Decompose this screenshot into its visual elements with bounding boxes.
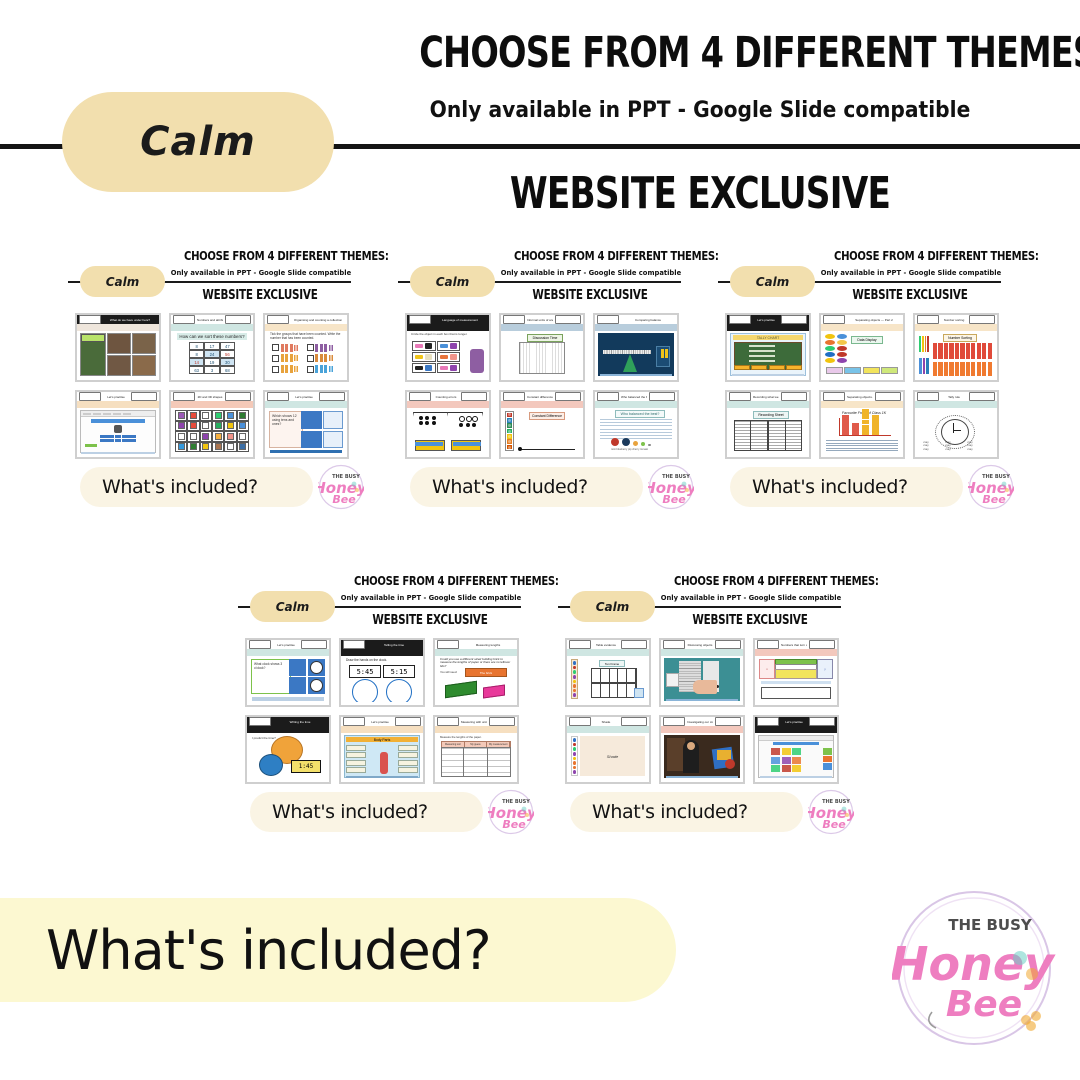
slide-band <box>435 726 517 733</box>
whats-included-label: What's included? <box>46 919 491 982</box>
slide-lesson-tag <box>173 315 195 323</box>
slide-topic-text: Writing the time <box>273 719 327 724</box>
slide-thumbnail[interactable]: Organising and counting a collection Tic… <box>263 313 349 382</box>
slide-thumbnail[interactable]: Language of measurement Circle the objec… <box>405 313 491 382</box>
card-slide-grid: Let's practise TALLY CHART Separating ob… <box>725 313 997 459</box>
slide-topic-text: Measuring with units: long, longer, or l… <box>461 719 487 724</box>
slide-body <box>757 734 835 779</box>
slide-header: Let's practise <box>755 717 837 726</box>
card-theme-pill-label: Calm <box>596 600 630 614</box>
slide-topic-text: Let's practise <box>781 719 807 724</box>
slide-resource-tag <box>809 640 835 648</box>
card-theme-pill-label: Calm <box>276 600 310 614</box>
slide-lesson-tag <box>343 640 365 648</box>
page-subtitle: Only available in PPT - Google Slide com… <box>369 98 1031 123</box>
slide-topic-text: Let's practise <box>273 642 299 647</box>
card-subtitle: Only available in PPT - Google Slide com… <box>171 268 350 277</box>
card-theme-pill-label: Calm <box>436 275 470 289</box>
card-theme-pill[interactable]: Calm <box>730 266 815 297</box>
card-theme-pill-label: Calm <box>106 275 140 289</box>
slide-thumbnail[interactable]: Writing the time I predict the time? 1:4… <box>245 715 331 784</box>
slide-header: Telling the time <box>341 640 423 649</box>
slide-band <box>595 401 677 408</box>
slide-topic-text: Let's practise <box>367 719 393 724</box>
slide-topic-text: Let's practise <box>103 394 129 399</box>
card-4[interactable]: Calm CHOOSE FROM 4 DIFFERENT THEMES: Onl… <box>230 565 530 855</box>
card-title: CHOOSE FROM 4 DIFFERENT THEMES: <box>184 248 336 263</box>
slide-resource-tag <box>875 392 901 400</box>
slide-topic-text: Shade <box>593 719 619 724</box>
slide-body: • key• key• key• key• key• key• key• key… <box>917 409 995 454</box>
slide-topic-text: Who balanced the best? <box>621 394 647 399</box>
card-exclusive-heading: WEBSITE EXCLUSIVE <box>354 613 506 628</box>
slide-resource-tag <box>715 717 741 725</box>
slide-thumbnail[interactable]: Let's practise Which shows 12 using tens… <box>263 390 349 459</box>
slide-body: Draw the hands on the clock. 5:45 5:15 <box>343 657 421 702</box>
slide-topic-text: Investigating our creative space <box>687 719 713 724</box>
card-theme-pill[interactable]: Calm <box>80 266 165 297</box>
brand-logo: THE BUSY Honey Bee <box>892 888 1056 1048</box>
slide-topic-text: Let's practise <box>753 317 779 322</box>
slide-thumbnail[interactable]: Who balanced the best? Who balanced the … <box>593 390 679 459</box>
svg-text:THE BUSY: THE BUSY <box>948 916 1033 934</box>
slide-resource-tag <box>555 315 581 323</box>
slide-band <box>407 401 489 408</box>
slide-band <box>821 401 903 408</box>
slide-thumbnail[interactable]: What do we have under here? <box>75 313 161 382</box>
card-exclusive-heading: WEBSITE EXCLUSIVE <box>184 288 336 303</box>
slide-topic-text: Telling the time <box>367 642 421 647</box>
slide-thumbnail[interactable]: Let's practise Body Parts <box>339 715 425 784</box>
card-exclusive-heading: WEBSITE EXCLUSIVE <box>674 613 826 628</box>
slide-body: Favourite Fruits of Class 1K <box>823 409 901 454</box>
slide-body: Recording Sheet <box>729 409 807 454</box>
slide-lesson-tag <box>503 392 525 400</box>
slide-thumbnail[interactable]: Investigating our creative space <box>659 715 745 784</box>
slide-header: Let's practise <box>341 717 423 726</box>
slide-thumbnail[interactable]: Number sorting Number Sorting <box>913 313 999 382</box>
slide-body: Data Display <box>823 332 901 377</box>
slide-resource-tag <box>621 717 647 725</box>
slide-thumbnail[interactable]: Recording what we count Recording Sheet <box>725 390 811 459</box>
slide-body: Circle the object in each box that is lo… <box>409 332 487 377</box>
slide-thumbnail[interactable]: Let's practise <box>75 390 161 459</box>
slide-lesson-tag <box>79 392 101 400</box>
card-whats-included-label: What's included? <box>752 476 908 498</box>
page-title: CHOOSE FROM 4 DIFFERENT THEMES: <box>419 28 981 78</box>
card-whats-included-bar: What's included? <box>410 467 643 507</box>
svg-text:Bee: Bee <box>502 818 526 831</box>
slide-thumbnail[interactable]: Counting errors <box>405 390 491 459</box>
card-brand-logo: THE BUSY Honey Bee <box>968 464 1014 510</box>
slide-body: x y <box>757 657 835 702</box>
slide-body: Discussion Time <box>503 332 581 377</box>
slide-band <box>727 401 809 408</box>
slide-lesson-tag <box>409 392 431 400</box>
slide-topic-text: 2D and 3D shapes <box>197 394 223 399</box>
slide-band <box>915 324 997 331</box>
slide-lesson-tag <box>729 315 751 323</box>
slide-band <box>247 726 329 733</box>
slide-thumbnail[interactable]: Shade Shade <box>565 715 651 784</box>
slide-topic-text: Number sorting <box>941 317 967 322</box>
slide-lesson-tag <box>267 392 289 400</box>
slide-lesson-tag <box>823 315 845 323</box>
slide-body: Who balanced the best? mini blueberry pi… <box>597 409 675 454</box>
slide-header: Measuring lengths <box>435 640 517 649</box>
card-whats-included-label: What's included? <box>432 476 588 498</box>
slide-body: I predict the time? 1:45 <box>249 734 327 779</box>
slide-resource-tag <box>649 392 675 400</box>
slide-thumbnail[interactable]: Constant difference Constant Difference <box>499 390 585 459</box>
slide-header: Comparing balance <box>595 315 677 324</box>
slide-topic-text: Separating objects — Part 3 <box>847 394 873 399</box>
card-title: CHOOSE FROM 4 DIFFERENT THEMES: <box>834 248 986 263</box>
slide-header: Counting errors <box>407 392 489 401</box>
slide-topic-text: Table evidence <box>593 642 619 647</box>
slide-lesson-tag <box>79 315 101 323</box>
slide-body <box>597 332 675 377</box>
card-theme-pill[interactable]: Calm <box>410 266 495 297</box>
slide-header: 2D and 3D shapes <box>171 392 253 401</box>
slide-header: Let's practise <box>247 640 329 649</box>
slide-topic-text: Language of measurement <box>433 317 487 322</box>
slide-header: Let's practise <box>727 315 809 324</box>
slide-resource-tag <box>489 717 515 725</box>
slide-band <box>567 649 649 656</box>
slide-thumbnail[interactable]: Telling the time Draw the hands on the c… <box>339 638 425 707</box>
card-5[interactable]: Calm CHOOSE FROM 4 DIFFERENT THEMES: Onl… <box>550 565 850 855</box>
slide-band <box>755 649 837 656</box>
slide-resource-tag <box>809 717 835 725</box>
slide-lesson-tag <box>173 392 195 400</box>
slide-header: Who balanced the best? <box>595 392 677 401</box>
slide-band <box>171 324 253 331</box>
svg-text:Bee: Bee <box>822 818 846 831</box>
slide-thumbnail[interactable]: Numbers that turn out colour x y <box>753 638 839 707</box>
card-brand-logo: THE BUSY Honey Bee <box>318 464 364 510</box>
svg-text:Honey: Honey <box>892 937 1056 991</box>
slide-resource-tag <box>781 315 807 323</box>
slide-lesson-tag <box>437 717 459 725</box>
slide-lesson-tag <box>249 717 271 725</box>
slide-thumbnail[interactable]: Discussing objects <box>659 638 745 707</box>
slide-body <box>79 332 157 377</box>
slide-body: Number Sorting <box>917 332 995 377</box>
card-3[interactable]: Calm CHOOSE FROM 4 DIFFERENT THEMES: Onl… <box>710 240 1010 530</box>
card-whats-included-bar: What's included? <box>730 467 963 507</box>
slide-header: Separating objects — Part 2 <box>821 315 903 324</box>
slide-band <box>727 324 809 331</box>
slide-body: Which shows 12 using tens and ones? <box>267 409 345 454</box>
slide-band <box>407 324 489 331</box>
slide-body: Could you use a different sized building… <box>437 657 515 702</box>
theme-pill-label: Calm <box>140 119 256 165</box>
slide-thumbnail[interactable]: Measuring with units: long, longer, or l… <box>433 715 519 784</box>
slide-thumbnail[interactable]: Separating objects — Part 2 Data Display <box>819 313 905 382</box>
slide-header: Let's practise <box>265 392 347 401</box>
slide-resource-tag <box>225 392 251 400</box>
slide-header: Writing the time <box>247 717 329 726</box>
card-slide-grid: Let's practise What clock shows 3 o'cloc… <box>245 638 517 784</box>
card-exclusive-heading: WEBSITE EXCLUSIVE <box>514 288 666 303</box>
slide-header: Let's practise <box>77 392 159 401</box>
slide-resource-tag <box>715 640 741 648</box>
slide-lesson-tag <box>409 315 431 323</box>
svg-text:Bee: Bee <box>946 984 1022 1025</box>
slide-resource-tag <box>301 640 327 648</box>
slide-resource-tag <box>969 392 995 400</box>
card-whats-included-label: What's included? <box>272 801 428 823</box>
slide-resource-tag <box>319 392 345 400</box>
slide-lesson-tag <box>663 717 685 725</box>
card-whats-included-bar: What's included? <box>570 792 803 832</box>
slide-lesson-tag <box>597 315 619 323</box>
slide-thumbnail[interactable]: Numbers and attributes How can we sort t… <box>169 313 255 382</box>
slide-topic-text: Informal units of area <box>527 317 553 322</box>
slide-header: Number sorting <box>915 315 997 324</box>
slide-band <box>661 726 743 733</box>
slide-topic-text: Counting errors <box>433 394 459 399</box>
slide-header: Constant difference <box>501 392 583 401</box>
slide-body <box>409 409 487 454</box>
slide-header: Discussing objects <box>661 640 743 649</box>
card-whats-included-bar: What's included? <box>250 792 483 832</box>
slide-body: TALLY CHART <box>729 332 807 377</box>
slide-topic-text: What do we have under here? <box>103 317 157 322</box>
slide-lesson-tag <box>437 640 459 648</box>
card-brand-logo: THE BUSY Honey Bee <box>488 789 534 835</box>
card-theme-pill[interactable]: Calm <box>250 591 335 622</box>
svg-text:Bee: Bee <box>662 493 686 506</box>
slide-lesson-tag <box>503 315 525 323</box>
slide-thumbnail[interactable]: Tally rule • key• key• key• key• key• ke… <box>913 390 999 459</box>
card-exclusive-heading: WEBSITE EXCLUSIVE <box>834 288 986 303</box>
theme-pill-calm[interactable]: Calm <box>62 92 334 192</box>
slide-header: Numbers and attributes <box>171 315 253 324</box>
slide-thumbnail[interactable]: Let's practise <box>753 715 839 784</box>
slide-resource-tag <box>969 315 995 323</box>
slide-body <box>173 409 251 454</box>
svg-text:Bee: Bee <box>982 493 1006 506</box>
slide-topic-text: Constant difference <box>527 394 553 399</box>
card-whats-included-label: What's included? <box>102 476 258 498</box>
slide-header: Tally rule <box>915 392 997 401</box>
slide-header: Organising and counting a collection <box>265 315 347 324</box>
slide-band <box>247 649 329 656</box>
slide-body: Ten Frame <box>569 657 647 702</box>
svg-text:Bee: Bee <box>332 493 356 506</box>
slide-lesson-tag <box>917 392 939 400</box>
slide-topic-text: Comparing balance <box>621 317 675 322</box>
slide-band <box>501 324 583 331</box>
slide-thumbnail[interactable]: Let's practise TALLY CHART <box>725 313 811 382</box>
card-brand-logo: THE BUSY Honey Bee <box>808 789 854 835</box>
slide-band <box>171 401 253 408</box>
slide-band <box>567 726 649 733</box>
card-brand-logo: THE BUSY Honey Bee <box>648 464 694 510</box>
slide-band <box>595 324 677 331</box>
card-slide-grid: What do we have under here? Numbers and … <box>75 313 347 459</box>
slide-band <box>77 401 159 408</box>
slide-topic-text: Recording what we count <box>753 394 779 399</box>
slide-topic-text: Measuring lengths <box>461 642 515 647</box>
slide-thumbnail[interactable]: 2D and 3D shapes <box>169 390 255 459</box>
card-slide-grid: Language of measurement Circle the objec… <box>405 313 677 459</box>
slide-body: Tick the groups that have been counted. … <box>267 332 345 377</box>
card-2[interactable]: Calm CHOOSE FROM 4 DIFFERENT THEMES: Onl… <box>390 240 690 530</box>
slide-body <box>663 657 741 702</box>
slide-body: Constant Difference <box>503 409 581 454</box>
slide-band <box>661 649 743 656</box>
slide-lesson-tag <box>663 640 685 648</box>
website-exclusive-heading: WEBSITE EXCLUSIVE <box>419 168 981 219</box>
slide-header: Shade <box>567 717 649 726</box>
card-theme-pill-label: Calm <box>756 275 790 289</box>
card-1[interactable]: Calm CHOOSE FROM 4 DIFFERENT THEMES: Onl… <box>60 240 360 530</box>
slide-band <box>755 726 837 733</box>
slide-body: Shade <box>569 734 647 779</box>
slide-body: How can we sort these numbers? 817478245… <box>173 332 251 377</box>
card-whats-included-label: What's included? <box>592 801 748 823</box>
slide-thumbnail[interactable]: Informal units of area Discussion Time <box>499 313 585 382</box>
slide-header: Measuring with units: long, longer, or l… <box>435 717 517 726</box>
slide-band <box>341 726 423 733</box>
slide-lesson-tag <box>757 640 779 648</box>
slide-header: Separating objects — Part 3 <box>821 392 903 401</box>
slide-lesson-tag <box>267 315 289 323</box>
slide-lesson-tag <box>729 392 751 400</box>
slide-header: Numbers that turn out colour <box>755 640 837 649</box>
card-subtitle: Only available in PPT - Google Slide com… <box>821 268 1000 277</box>
slide-body: What clock shows 3 o'clock? <box>249 657 327 702</box>
card-slide-grid: Table evidence Ten Frame Discussing obje… <box>565 638 837 784</box>
slide-resource-tag <box>395 717 421 725</box>
slide-body: Measure the lengths of the paper. Measur… <box>437 734 515 779</box>
slide-thumbnail[interactable]: Table evidence Ten Frame <box>565 638 651 707</box>
slide-body <box>79 409 157 454</box>
slide-resource-tag <box>781 392 807 400</box>
slide-band <box>435 649 517 656</box>
slide-resource-tag <box>461 392 487 400</box>
slide-lesson-tag <box>917 315 939 323</box>
card-theme-pill[interactable]: Calm <box>570 591 655 622</box>
slide-header: Language of measurement <box>407 315 489 324</box>
slide-body <box>663 734 741 779</box>
slide-header: Recording what we count <box>727 392 809 401</box>
slide-topic-text: Let's practise <box>291 394 317 399</box>
slide-body: Body Parts <box>343 734 421 779</box>
slide-band <box>915 401 997 408</box>
slide-resource-tag <box>131 392 157 400</box>
slide-header: Investigating our creative space <box>661 717 743 726</box>
card-subtitle: Only available in PPT - Google Slide com… <box>661 593 840 602</box>
slide-lesson-tag <box>343 717 365 725</box>
slide-band <box>77 324 159 331</box>
slide-topic-text: Tally rule <box>941 394 967 399</box>
card-title: CHOOSE FROM 4 DIFFERENT THEMES: <box>354 573 506 588</box>
slide-thumbnail[interactable]: Comparing balance <box>593 313 679 382</box>
card-subtitle: Only available in PPT - Google Slide com… <box>341 593 520 602</box>
slide-lesson-tag <box>757 717 779 725</box>
slide-band <box>265 401 347 408</box>
slide-thumbnail[interactable]: Let's practise What clock shows 3 o'cloc… <box>245 638 331 707</box>
slide-topic-text: Organising and counting a collection <box>291 317 345 322</box>
slide-topic-text: Discussing objects <box>687 642 713 647</box>
slide-lesson-tag <box>597 392 619 400</box>
slide-resource-tag <box>555 392 581 400</box>
slide-band <box>341 649 423 656</box>
slide-header: Informal units of area <box>501 315 583 324</box>
slide-lesson-tag <box>823 392 845 400</box>
slide-thumbnail[interactable]: Measuring lengths Could you use a differ… <box>433 638 519 707</box>
slide-lesson-tag <box>249 640 271 648</box>
page-header: Calm CHOOSE FROM 4 DIFFERENT THEMES: Onl… <box>0 0 1080 232</box>
card-whats-included-bar: What's included? <box>80 467 313 507</box>
slide-topic-text: Separating objects — Part 2 <box>847 317 901 322</box>
slide-lesson-tag <box>569 640 591 648</box>
slide-header: What do we have under here? <box>77 315 159 324</box>
slide-topic-text: Numbers that turn out colour <box>781 642 807 647</box>
slide-resource-tag <box>621 640 647 648</box>
card-title: CHOOSE FROM 4 DIFFERENT THEMES: <box>514 248 666 263</box>
slide-lesson-tag <box>569 717 591 725</box>
card-subtitle: Only available in PPT - Google Slide com… <box>501 268 680 277</box>
whats-included-bar: What's included? <box>0 898 676 1002</box>
slide-band <box>501 401 583 408</box>
slide-header: Table evidence <box>567 640 649 649</box>
slide-band <box>265 324 347 331</box>
slide-resource-tag <box>225 315 251 323</box>
slide-thumbnail[interactable]: Separating objects — Part 3 Favourite Fr… <box>819 390 905 459</box>
card-title: CHOOSE FROM 4 DIFFERENT THEMES: <box>674 573 826 588</box>
slide-band <box>821 324 903 331</box>
slide-topic-text: Numbers and attributes <box>197 317 223 322</box>
